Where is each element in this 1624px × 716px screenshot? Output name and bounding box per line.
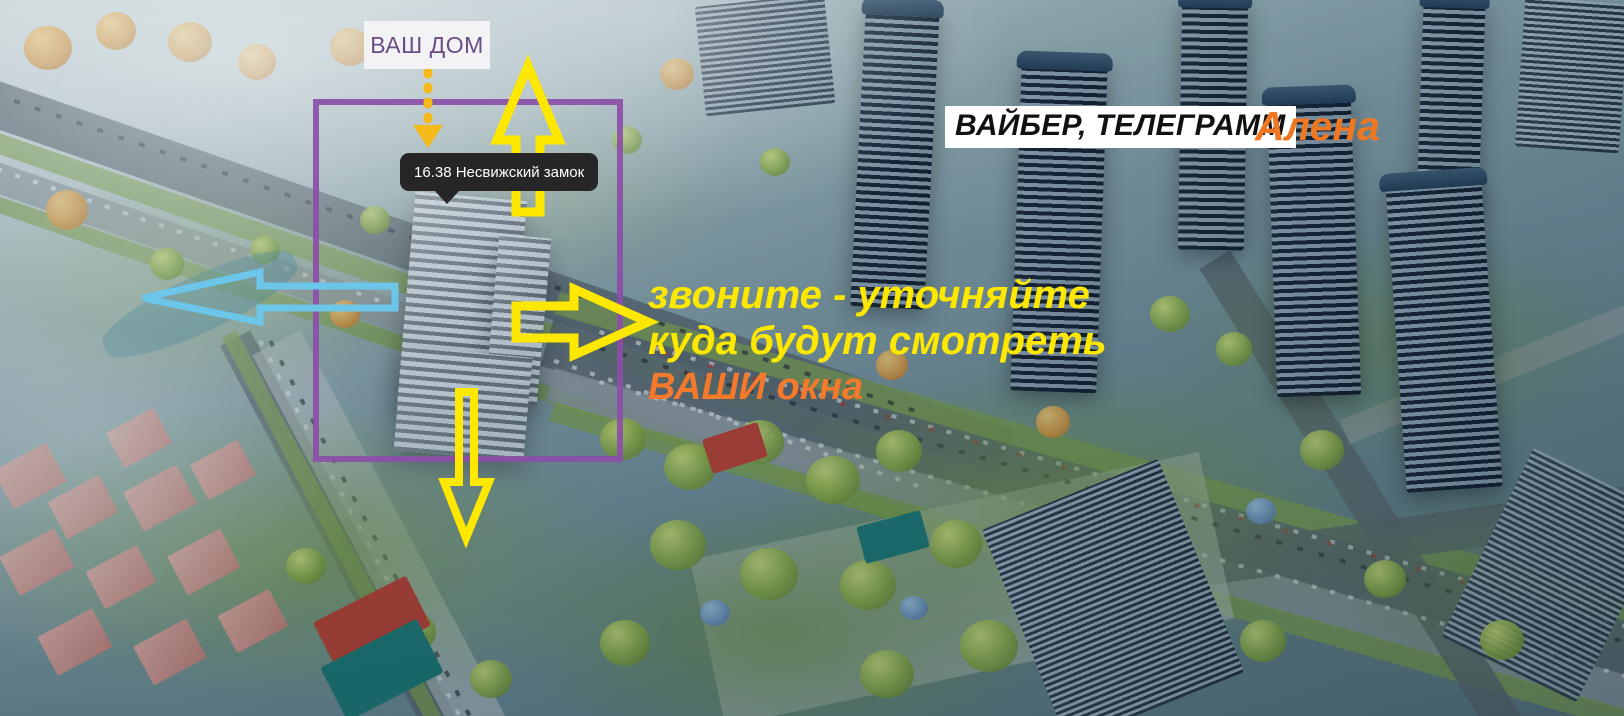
annotated-aerial-screenshot: ВАШ ДОМ 16.38 Несвижский замок ВАЙБЕР, Т… — [0, 0, 1624, 716]
your-home-label: ВАШ ДОМ — [364, 21, 490, 69]
arrow-right-yellow-icon — [516, 289, 648, 355]
map-tooltip-pointer — [434, 190, 460, 204]
promo-line-2: куда будут смотреть — [648, 318, 1107, 364]
promo-line-3: ВАШИ окна — [648, 365, 1107, 409]
annotation-overlay: ВАШ ДОМ 16.38 Несвижский замок ВАЙБЕР, Т… — [0, 0, 1624, 716]
map-tooltip[interactable]: 16.38 Несвижский замок — [400, 153, 598, 191]
agent-name-label: Алена — [1255, 103, 1380, 150]
promo-line-1: звоните - уточняйте — [648, 272, 1107, 318]
messenger-contact-text: ВАЙБЕР, ТЕЛЕГРАММ — [955, 109, 1286, 142]
arrow-down-dotted-icon — [413, 72, 443, 148]
your-home-label-text: ВАШ ДОМ — [370, 32, 484, 59]
arrow-down-yellow-icon — [444, 392, 489, 538]
arrow-left-cyan-icon — [143, 272, 395, 322]
map-tooltip-text: 16.38 Несвижский замок — [414, 164, 584, 181]
messenger-contact-banner: ВАЙБЕР, ТЕЛЕГРАММ — [945, 106, 1296, 148]
promo-text-block: звоните - уточняйте куда будут смотреть … — [648, 272, 1107, 409]
